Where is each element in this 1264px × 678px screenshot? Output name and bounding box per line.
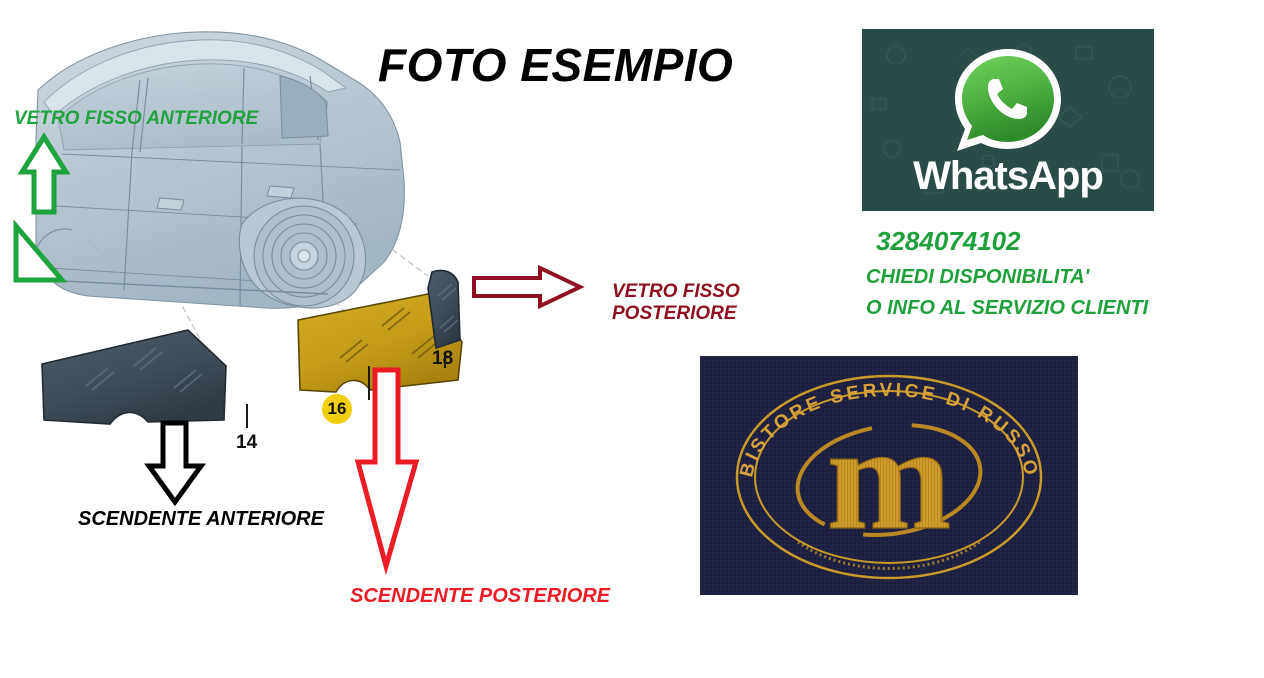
cta-line-1: CHIEDI DISPONIBILITA'	[866, 266, 1089, 289]
whatsapp-logo-icon	[949, 45, 1067, 157]
part-14-front-drop-glass	[42, 330, 226, 424]
shop-logo-svg: MRICAMBISTORE SERVICE DI RUSSO MARCO m	[700, 356, 1078, 595]
label-vfp-line2: POSTERIORE	[612, 303, 792, 325]
part-number-16-badge: 16	[322, 394, 352, 424]
whatsapp-wordmark: WhatsApp	[862, 154, 1154, 199]
part-number-17: 17	[377, 396, 398, 418]
whatsapp-phone-number[interactable]: 3284074102	[876, 226, 1021, 257]
label-vetro-fisso-posteriore: VETRO FISSO POSTERIORE	[612, 281, 792, 325]
part-number-14: 14	[236, 432, 257, 454]
label-scendente-anteriore: SCENDENTE ANTERIORE	[78, 508, 324, 531]
logo-monogram: m	[827, 395, 952, 561]
whatsapp-banner: WhatsApp	[862, 29, 1154, 211]
part-number-18: 18	[432, 348, 453, 370]
shop-logo-photo: MRICAMBISTORE SERVICE DI RUSSO MARCO m	[700, 356, 1078, 595]
label-vfp-line1: VETRO FISSO	[612, 281, 792, 303]
page-title: FOTO ESEMPIO	[378, 38, 733, 92]
label-scendente-posteriore: SCENDENTE POSTERIORE	[350, 585, 610, 608]
screenshot-canvas: 14 16 17 18 FOTO ESEMPIO VETRO FISSO ANT…	[0, 0, 1264, 678]
label-vetro-fisso-anteriore: VETRO FISSO ANTERIORE	[14, 108, 258, 130]
cta-line-2: O INFO AL SERVIZIO CLIENTI	[866, 297, 1148, 320]
svg-text:m: m	[827, 395, 952, 561]
